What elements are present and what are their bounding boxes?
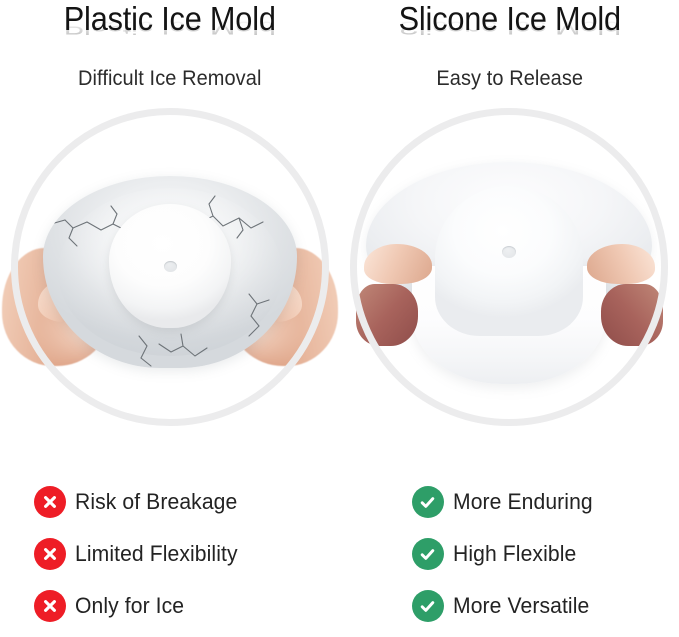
photo-silicone-mold	[340, 98, 679, 460]
check-circle-icon	[412, 590, 444, 622]
feature-list-plastic: Risk of Breakage Limited Flexibility Onl…	[0, 460, 340, 637]
title-block-silicone: Slicone Ice Mold Slicone Ice Mold	[340, 0, 679, 56]
finger-left-index	[364, 244, 432, 284]
feature-label: More Versatile	[453, 593, 589, 619]
feature-row: Risk of Breakage	[0, 476, 340, 528]
product-comparison: Plastic Ice Mold Plastic Ice Mold Diffic…	[0, 0, 679, 637]
check-circle-icon	[412, 486, 444, 518]
x-circle-icon	[34, 486, 66, 518]
title-block-plastic: Plastic Ice Mold Plastic Ice Mold	[0, 0, 340, 56]
feature-label: More Enduring	[453, 489, 593, 515]
finger-left-lower	[356, 284, 418, 346]
feature-row: Limited Flexibility	[0, 528, 340, 580]
x-circle-icon	[34, 538, 66, 570]
feature-label: Only for Ice	[75, 593, 184, 619]
feature-list-silicone: More Enduring High Flexible More Versati…	[340, 460, 679, 637]
ice-puck	[109, 204, 231, 328]
silicone-dome	[435, 186, 583, 336]
feature-row: More Enduring	[340, 476, 679, 528]
panel-plastic: Plastic Ice Mold Plastic Ice Mold Diffic…	[0, 0, 340, 637]
subtitle-plastic: Difficult Ice Removal	[8, 66, 331, 92]
finger-right-lower	[601, 284, 663, 346]
feature-row: Only for Ice	[0, 580, 340, 632]
page-title-plastic: Plastic Ice Mold	[12, 0, 328, 38]
feature-row: More Versatile	[340, 580, 679, 632]
finger-right-index	[587, 244, 655, 284]
feature-label: Risk of Breakage	[75, 489, 237, 515]
feature-label: Limited Flexibility	[75, 541, 238, 567]
feature-row: High Flexible	[340, 528, 679, 580]
panel-silicone: Slicone Ice Mold Slicone Ice Mold Easy t…	[340, 0, 679, 637]
feature-label: High Flexible	[453, 541, 576, 567]
check-circle-icon	[412, 538, 444, 570]
x-circle-icon	[34, 590, 66, 622]
page-title-silicone: Slicone Ice Mold	[351, 0, 667, 38]
subtitle-silicone: Easy to Release	[348, 66, 671, 92]
photo-plastic-mold	[0, 98, 340, 460]
